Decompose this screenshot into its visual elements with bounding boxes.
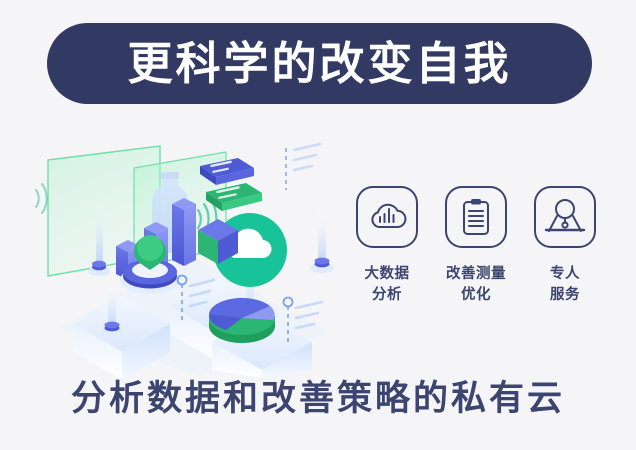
- feature-list: 大数据 分析 改善测量 优化: [348, 186, 604, 331]
- service-agent-icon: [534, 186, 596, 248]
- indicator-pole-right: [310, 206, 334, 273]
- banner-stage: 更科学的改变自我: [0, 0, 636, 450]
- connector-line-top: [286, 144, 320, 190]
- feature-item-measurement[interactable]: 改善测量 优化: [437, 186, 515, 306]
- page-title: 更科学的改变自我: [127, 41, 511, 86]
- feature-item-big-data[interactable]: 大数据 分析: [348, 186, 426, 306]
- feature-label: 改善测量 优化: [446, 264, 506, 306]
- feature-label: 专人 服务: [550, 264, 580, 306]
- feature-item-service[interactable]: 专人 服务: [526, 186, 604, 306]
- bar-3: [172, 198, 196, 266]
- cloud-bar-chart-icon: [356, 186, 418, 248]
- title-banner: 更科学的改变自我: [47, 23, 592, 104]
- pie-chart-3d: [209, 298, 275, 343]
- tagline: 分析数据和改善策略的私有云: [0, 381, 636, 416]
- isometric-illustration: [30, 128, 360, 378]
- clipboard-icon: [445, 186, 507, 248]
- wifi-signal-icon-left: [36, 184, 47, 213]
- feature-label: 大数据 分析: [365, 264, 410, 306]
